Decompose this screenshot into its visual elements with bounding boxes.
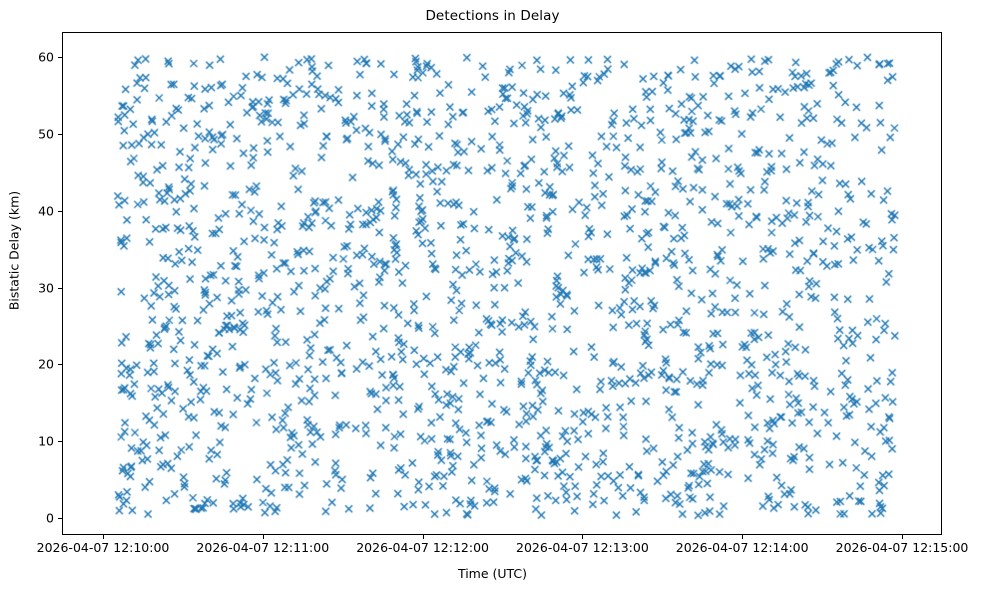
x-tick-mark <box>742 535 743 539</box>
x-tick-label: 2026-04-07 12:13:00 <box>516 540 649 555</box>
scatter-points-layer <box>63 33 941 534</box>
x-tick-label: 2026-04-07 12:10:00 <box>37 540 170 555</box>
y-axis-label: Bistatic Delay (km) <box>7 141 22 361</box>
x-axis-label: Time (UTC) <box>0 566 985 581</box>
x-tick-label: 2026-04-07 12:15:00 <box>836 540 969 555</box>
y-tick-label: 60 <box>14 50 54 65</box>
x-tick-mark <box>263 535 264 539</box>
x-tick-mark <box>582 535 583 539</box>
x-tick-mark <box>103 535 104 539</box>
page-title: Detections in Delay <box>0 8 985 24</box>
x-tick-label: 2026-04-07 12:12:00 <box>356 540 489 555</box>
matplotlib-figure: Detections in Delay 01020304050602026-04… <box>0 0 985 590</box>
x-tick-label: 2026-04-07 12:11:00 <box>196 540 329 555</box>
y-tick-label: 10 <box>14 434 54 449</box>
y-tick-label: 0 <box>14 511 54 526</box>
y-tick-label: 50 <box>14 126 54 141</box>
x-tick-label: 2026-04-07 12:14:00 <box>676 540 809 555</box>
x-tick-mark <box>902 535 903 539</box>
plot-axes <box>62 32 942 535</box>
x-tick-mark <box>423 535 424 539</box>
